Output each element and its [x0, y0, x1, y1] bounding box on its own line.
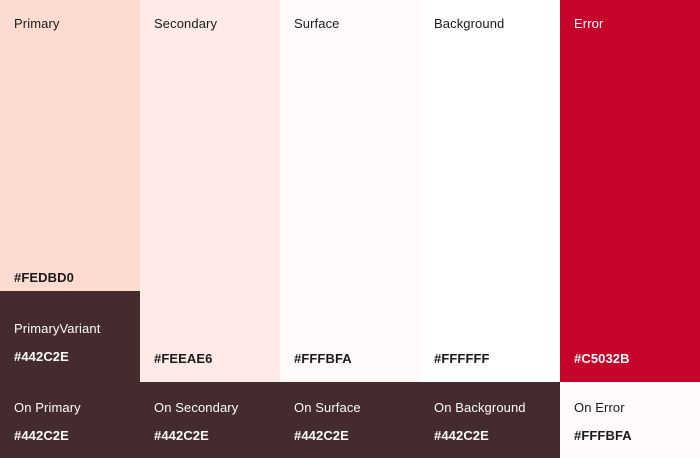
swatch-hex-background: #FFFFFF: [434, 352, 490, 365]
swatch-label-on-background: On Background: [434, 401, 526, 414]
swatch-hex-on-background: #442C2E: [434, 429, 489, 442]
swatch-secondary[interactable]: Secondary #FEEAE6: [140, 0, 280, 382]
swatch-surface[interactable]: Surface #FFFBFA: [280, 0, 420, 382]
swatch-hex-secondary: #FEEAE6: [154, 352, 213, 365]
swatch-hex-on-surface: #442C2E: [294, 429, 349, 442]
swatch-label-background: Background: [434, 17, 504, 30]
swatch-hex-primary: #FEDBD0: [14, 271, 74, 284]
swatch-label-surface: Surface: [294, 17, 340, 30]
swatch-on-background[interactable]: On Background #442C2E: [420, 382, 560, 458]
swatch-hex-on-error: #FFFBFA: [574, 429, 632, 442]
swatch-label-on-error: On Error: [574, 401, 625, 414]
swatch-label-secondary: Secondary: [154, 17, 217, 30]
swatch-label-on-surface: On Surface: [294, 401, 361, 414]
swatch-on-secondary[interactable]: On Secondary #442C2E: [140, 382, 280, 458]
swatch-primary[interactable]: Primary #FEDBD0: [0, 0, 140, 291]
swatch-label-primary-variant: PrimaryVariant: [14, 322, 100, 335]
swatch-label-primary: Primary: [14, 17, 59, 30]
swatch-on-error[interactable]: On Error #FFFBFA: [560, 382, 700, 458]
swatch-background[interactable]: Background #FFFFFF: [420, 0, 560, 382]
swatch-error[interactable]: Error #C5032B: [560, 0, 700, 382]
swatch-primary-variant[interactable]: PrimaryVariant #442C2E: [0, 291, 140, 382]
swatch-hex-primary-variant: #442C2E: [14, 350, 69, 363]
swatch-on-surface[interactable]: On Surface #442C2E: [280, 382, 420, 458]
swatch-hex-on-secondary: #442C2E: [154, 429, 209, 442]
swatch-on-primary[interactable]: On Primary #442C2E: [0, 382, 140, 458]
on-color-row: On Primary #442C2E On Secondary #442C2E …: [0, 382, 700, 458]
swatch-hex-error: #C5032B: [574, 352, 630, 365]
swatch-label-on-secondary: On Secondary: [154, 401, 238, 414]
swatch-label-error: Error: [574, 17, 603, 30]
swatch-hex-on-primary: #442C2E: [14, 429, 69, 442]
swatch-label-on-primary: On Primary: [14, 401, 81, 414]
swatch-hex-surface: #FFFBFA: [294, 352, 352, 365]
color-palette: Primary #FEDBD0 PrimaryVariant #442C2E S…: [0, 0, 700, 458]
